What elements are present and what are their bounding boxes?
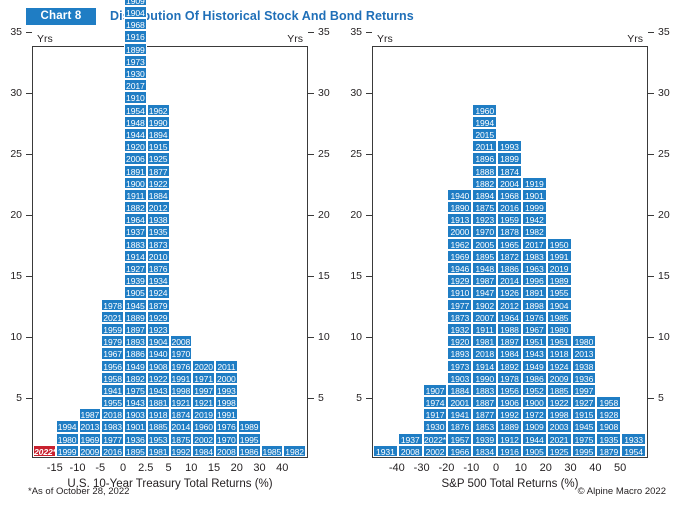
year-cell: 1959 xyxy=(497,213,522,225)
sp500-columns: 19312008193720022022*1930191719741907196… xyxy=(373,47,647,457)
treasury-yaxis-unit-right: Yrs xyxy=(287,33,303,45)
year-cell: 1948 xyxy=(472,262,497,274)
year-cell: 1972 xyxy=(522,408,547,420)
year-cell: 1994 xyxy=(56,420,79,432)
year-cell: 1909 xyxy=(522,420,547,432)
year-cell: 1904 xyxy=(547,299,572,311)
year-cell: 1991 xyxy=(215,408,238,420)
year-cell: 1980 xyxy=(56,433,79,445)
year-cell: 1834 xyxy=(472,445,497,457)
year-cell: 2000 xyxy=(447,225,472,237)
y-tick-mark xyxy=(366,32,372,33)
bin-minus40-minus30: 20081937 xyxy=(398,433,423,457)
y-tick-label: 25 xyxy=(10,149,22,159)
year-cell: 1961 xyxy=(547,335,572,347)
y-tick-mark xyxy=(308,93,314,94)
year-cell: 2003 xyxy=(547,420,572,432)
year-cell: 1922 xyxy=(147,372,170,384)
year-cell: 1886 xyxy=(497,262,522,274)
x-tick-label: 10 xyxy=(515,462,527,474)
y-tick-label: 20 xyxy=(658,210,670,220)
year-cell: 1894 xyxy=(147,128,170,140)
year-cell: 2019 xyxy=(547,262,572,274)
year-cell: 1977 xyxy=(447,299,472,311)
year-cell: 1884 xyxy=(447,384,472,396)
year-cell: 1935 xyxy=(596,433,621,445)
year-cell: 1938 xyxy=(147,213,170,225)
year-cell: 1977 xyxy=(101,433,124,445)
year-cell: 2013 xyxy=(572,347,597,359)
year-cell: 1939 xyxy=(124,274,147,286)
year-cell: 2017 xyxy=(124,79,147,91)
y-tick-mark xyxy=(26,154,32,155)
year-cell: 1947 xyxy=(472,286,497,298)
year-cell: 1970 xyxy=(215,433,238,445)
year-cell: 2020 xyxy=(192,360,215,372)
year-cell: 1981 xyxy=(472,335,497,347)
x-tick-label: 0 xyxy=(120,462,126,474)
year-cell: 1918 xyxy=(547,347,572,359)
y-tick-label: 10 xyxy=(10,332,22,342)
year-cell: 1980 xyxy=(572,335,597,347)
year-cell: 1918 xyxy=(147,408,170,420)
y-tick-label: 35 xyxy=(350,27,362,37)
year-cell: 1951 xyxy=(522,335,547,347)
year-cell: 1971 xyxy=(192,372,215,384)
year-cell: 1905 xyxy=(522,445,547,457)
bin-0-10: 1916191218891992190619561978189219841897… xyxy=(497,140,522,457)
year-cell: 1902 xyxy=(472,299,497,311)
year-cell: 1966 xyxy=(447,445,472,457)
year-cell: 1982 xyxy=(522,225,547,237)
year-cell: 1943 xyxy=(124,396,147,408)
y-tick-label: 15 xyxy=(318,271,330,281)
year-cell: 1903 xyxy=(124,408,147,420)
year-cell: 1944 xyxy=(522,433,547,445)
y-tick-mark xyxy=(26,398,32,399)
year-cell: 1990 xyxy=(472,372,497,384)
y-tick-mark xyxy=(26,276,32,277)
year-cell: 1925 xyxy=(547,445,572,457)
year-cell: 1999 xyxy=(56,445,79,457)
year-cell: 2007 xyxy=(472,311,497,323)
year-cell: 1955 xyxy=(101,396,124,408)
year-cell: 1922 xyxy=(547,396,572,408)
year-cell: 1986 xyxy=(522,372,547,384)
year-cell: 1882 xyxy=(124,201,147,213)
y-tick-mark xyxy=(648,154,654,155)
year-cell: 1881 xyxy=(147,396,170,408)
bin-2p5-5: 1981195318851918188119431922190819401904… xyxy=(147,104,170,457)
y-tick-mark xyxy=(308,32,314,33)
year-cell: 2008 xyxy=(215,445,238,457)
year-cell: 1943 xyxy=(522,347,547,359)
year-cell: 1874 xyxy=(170,408,193,420)
year-cell: 2022* xyxy=(423,433,448,445)
year-cell: 1875 xyxy=(472,201,497,213)
y-tick-label: 30 xyxy=(350,88,362,98)
y-tick-mark xyxy=(366,398,372,399)
chart-number-badge: Chart 8 xyxy=(26,8,96,25)
year-cell: 1908 xyxy=(147,360,170,372)
year-cell: 1897 xyxy=(497,335,522,347)
year-cell: 1889 xyxy=(497,420,522,432)
year-cell: 2008 xyxy=(170,335,193,347)
year-cell: 1896 xyxy=(472,152,497,164)
year-cell: 1910 xyxy=(124,91,147,103)
year-cell: 1978 xyxy=(497,372,522,384)
x-tick-label: -40 xyxy=(389,462,405,474)
bin-minus15-minus10: 199919801994 xyxy=(56,420,79,457)
year-cell: 1891 xyxy=(522,286,547,298)
year-cell: 2002 xyxy=(423,445,448,457)
year-cell: 2014 xyxy=(497,274,522,286)
year-cell: 1930 xyxy=(423,420,448,432)
year-cell: 1969 xyxy=(447,250,472,262)
year-cell: 1934 xyxy=(147,274,170,286)
year-cell: 2000 xyxy=(215,372,238,384)
year-cell: 1911 xyxy=(472,323,497,335)
bin-20-30: 1925202120031998192218852009192419181961… xyxy=(547,238,572,457)
x-tick-label: -15 xyxy=(47,462,63,474)
sp500-yaxis-unit-left: Yrs xyxy=(377,33,393,45)
year-cell: 1915 xyxy=(572,408,597,420)
year-cell: 1942 xyxy=(522,213,547,225)
year-cell: 1978 xyxy=(101,299,124,311)
year-cell: 1883 xyxy=(124,238,147,250)
sp500-xaxis-labels: -40-30-20-1001020304050 xyxy=(372,462,648,476)
y-tick-label: 10 xyxy=(350,332,362,342)
y-tick-label: 35 xyxy=(10,27,22,37)
year-cell: 1904 xyxy=(124,6,147,18)
year-cell: 2016 xyxy=(101,445,124,457)
bin-lt-minus40: 1931 xyxy=(373,445,398,457)
year-cell: 1932 xyxy=(447,323,472,335)
year-cell: 1931 xyxy=(373,445,398,457)
year-cell: 1916 xyxy=(124,30,147,42)
year-cell: 1987 xyxy=(79,408,102,420)
year-cell: 1927 xyxy=(124,262,147,274)
year-cell: 1991 xyxy=(170,372,193,384)
y-tick-mark xyxy=(366,93,372,94)
year-cell-highlighted: 2022* xyxy=(33,445,56,457)
year-cell: 1937 xyxy=(398,433,423,445)
year-cell: 1993 xyxy=(215,384,238,396)
x-tick-label: 15 xyxy=(208,462,220,474)
year-cell: 1988 xyxy=(497,323,522,335)
y-tick-label: 25 xyxy=(350,149,362,159)
year-cell: 1991 xyxy=(547,250,572,262)
year-cell: 1964 xyxy=(124,213,147,225)
year-cell: 1924 xyxy=(547,360,572,372)
x-tick-label: -10 xyxy=(463,462,479,474)
year-cell: 1941 xyxy=(447,408,472,420)
x-tick-label: 10 xyxy=(185,462,197,474)
year-cell: 1885 xyxy=(147,420,170,432)
year-cell: 1929 xyxy=(147,311,170,323)
year-cell: 1960 xyxy=(472,104,497,116)
year-cell: 2011 xyxy=(472,140,497,152)
bin-20-30: 198619951989 xyxy=(238,420,261,457)
x-tick-label: 20 xyxy=(540,462,552,474)
y-tick-mark xyxy=(366,337,372,338)
year-cell: 1916 xyxy=(497,445,522,457)
year-cell: 1914 xyxy=(124,250,147,262)
year-cell: 1997 xyxy=(192,384,215,396)
year-cell: 1875 xyxy=(170,433,193,445)
year-cell: 1963 xyxy=(522,262,547,274)
year-cell: 2012 xyxy=(147,201,170,213)
year-cell: 1899 xyxy=(497,152,522,164)
year-cell: 1969 xyxy=(79,433,102,445)
year-cell: 1949 xyxy=(522,360,547,372)
year-cell: 1939 xyxy=(472,433,497,445)
year-cell: 1903 xyxy=(447,372,472,384)
year-cell: 1998 xyxy=(547,408,572,420)
y-tick-mark xyxy=(366,154,372,155)
year-cell: 1980 xyxy=(547,323,572,335)
year-cell: 1897 xyxy=(124,323,147,335)
treasury-chart-panel: Yrs Yrs 551010151520202525303035354040 2… xyxy=(0,46,340,458)
year-cell: 1900 xyxy=(522,396,547,408)
year-cell: 1945 xyxy=(124,299,147,311)
year-cell: 1930 xyxy=(124,67,147,79)
x-tick-label: -30 xyxy=(414,462,430,474)
y-tick-mark xyxy=(308,337,314,338)
year-cell: 2008 xyxy=(398,445,423,457)
y-tick-mark xyxy=(648,337,654,338)
year-cell: 1990 xyxy=(147,116,170,128)
year-cell: 1928 xyxy=(596,408,621,420)
year-cell: 1992 xyxy=(497,408,522,420)
bin-5-10: 1992187520141874192119981991197619702008 xyxy=(170,335,193,457)
y-tick-label: 20 xyxy=(350,210,362,220)
year-cell: 1922 xyxy=(147,177,170,189)
year-cell: 1888 xyxy=(472,165,497,177)
year-cell: 1943 xyxy=(147,384,170,396)
year-cell: 1997 xyxy=(572,384,597,396)
bin-10-15: 19842002196020191921199719712020 xyxy=(192,360,215,458)
year-cell: 1907 xyxy=(423,384,448,396)
year-cell: 1958 xyxy=(596,396,621,408)
year-cell: 2011 xyxy=(215,360,238,372)
bin-lt-minus15: 2022* xyxy=(33,445,56,457)
year-cell: 1893 xyxy=(447,347,472,359)
footnote: *As of October 28, 2022 xyxy=(28,486,129,497)
year-cell: 1996 xyxy=(522,274,547,286)
y-tick-mark xyxy=(648,276,654,277)
year-cell: 1967 xyxy=(101,347,124,359)
year-cell: 1906 xyxy=(497,396,522,408)
year-cell: 1901 xyxy=(124,420,147,432)
year-cell: 1950 xyxy=(547,238,572,250)
year-cell: 1895 xyxy=(124,445,147,457)
y-tick-mark xyxy=(648,32,654,33)
year-cell: 1913 xyxy=(447,213,472,225)
year-cell: 1984 xyxy=(497,347,522,359)
year-cell: 1910 xyxy=(447,286,472,298)
year-cell: 1999 xyxy=(522,201,547,213)
year-cell: 1890 xyxy=(447,201,472,213)
year-cell: 1958 xyxy=(101,372,124,384)
y-tick-label: 30 xyxy=(658,88,670,98)
year-cell: 1940 xyxy=(147,347,170,359)
y-tick-label: 20 xyxy=(318,210,330,220)
year-cell: 1998 xyxy=(170,384,193,396)
bin-minus30-minus20: 20022022*1930191719741907 xyxy=(423,384,448,457)
y-tick-mark xyxy=(648,398,654,399)
y-tick-label: 10 xyxy=(658,332,670,342)
year-cell: 2004 xyxy=(497,177,522,189)
year-cell: 1900 xyxy=(124,177,147,189)
year-cell: 1954 xyxy=(124,104,147,116)
year-cell: 2005 xyxy=(472,238,497,250)
year-cell: 1884 xyxy=(147,189,170,201)
year-cell: 1877 xyxy=(472,408,497,420)
year-cell: 1946 xyxy=(447,262,472,274)
year-cell: 2021 xyxy=(101,311,124,323)
y-tick-mark xyxy=(308,154,314,155)
page-title: Distribution Of Historical Stock And Bon… xyxy=(110,8,414,25)
x-tick-label: -10 xyxy=(70,462,86,474)
year-cell: 1923 xyxy=(147,323,170,335)
y-tick-mark xyxy=(648,93,654,94)
year-cell: 1923 xyxy=(472,213,497,225)
y-tick-label: 15 xyxy=(350,271,362,281)
year-cell: 1876 xyxy=(447,420,472,432)
year-cell: 1877 xyxy=(147,165,170,177)
year-cell: 1921 xyxy=(192,396,215,408)
year-cell: 1926 xyxy=(497,286,522,298)
year-cell: 2014 xyxy=(170,420,193,432)
year-cell: 1976 xyxy=(522,311,547,323)
year-cell: 1965 xyxy=(497,238,522,250)
year-cell: 1955 xyxy=(547,286,572,298)
year-cell: 1876 xyxy=(147,262,170,274)
year-cell: 1937 xyxy=(124,225,147,237)
x-tick-label: 30 xyxy=(253,462,265,474)
year-cell: 1921 xyxy=(170,396,193,408)
year-cell: 1984 xyxy=(192,445,215,457)
x-tick-label: -20 xyxy=(439,462,455,474)
treasury-yaxis-unit-left: Yrs xyxy=(37,33,53,45)
y-tick-label: 35 xyxy=(658,27,670,37)
bin-minus10-minus5: 2009196920131987 xyxy=(79,408,102,457)
year-cell: 1912 xyxy=(497,433,522,445)
y-tick-mark xyxy=(26,32,32,33)
year-cell: 1893 xyxy=(124,335,147,347)
year-cell: 1944 xyxy=(124,128,147,140)
year-cell: 1892 xyxy=(497,360,522,372)
y-tick-label: 5 xyxy=(658,393,664,403)
y-tick-mark xyxy=(26,337,32,338)
year-cell: 1975 xyxy=(124,384,147,396)
y-tick-mark xyxy=(648,215,654,216)
year-cell: 1975 xyxy=(572,433,597,445)
year-cell: 1886 xyxy=(124,347,147,359)
year-cell: 1919 xyxy=(522,177,547,189)
year-cell: 1894 xyxy=(472,189,497,201)
year-cell: 1953 xyxy=(147,433,170,445)
year-cell: 1985 xyxy=(547,311,572,323)
year-cell: 1952 xyxy=(522,384,547,396)
year-cell: 1925 xyxy=(147,152,170,164)
year-cell: 1898 xyxy=(522,299,547,311)
year-cell: 1874 xyxy=(497,165,522,177)
year-cell: 1882 xyxy=(472,177,497,189)
year-cell: 1914 xyxy=(472,360,497,372)
treasury-xaxis-labels: -15-10-502.551015203040 xyxy=(32,462,308,476)
sp500-yaxis-unit-right: Yrs xyxy=(627,33,643,45)
year-cell: 1908 xyxy=(596,420,621,432)
year-cell: 1964 xyxy=(497,311,522,323)
year-cell: 1936 xyxy=(572,372,597,384)
year-cell: 1933 xyxy=(621,433,646,445)
year-cell: 2010 xyxy=(147,250,170,262)
year-cell: 1945 xyxy=(572,420,597,432)
year-cell: 2002 xyxy=(192,433,215,445)
year-cell: 1938 xyxy=(572,360,597,372)
bin-gt-40: 1982 xyxy=(283,445,306,457)
y-tick-label: 5 xyxy=(16,393,22,403)
sp500-plot-area: Yrs Yrs 551010151520202525303035354040 1… xyxy=(372,46,648,458)
bin-15-20: 20081970197619911998199320002011 xyxy=(215,360,238,458)
bin-30-40: 1985 xyxy=(261,445,284,457)
copyright-notice: © Alpine Macro 2022 xyxy=(578,486,666,497)
year-cell: 1941 xyxy=(101,384,124,396)
year-cell: 1879 xyxy=(147,299,170,311)
bin-10-20: 1905194419091972190019521986194919431951… xyxy=(522,177,547,457)
year-cell: 1989 xyxy=(238,420,261,432)
year-cell: 2017 xyxy=(522,238,547,250)
year-cell: 1976 xyxy=(170,360,193,372)
year-cell: 1998 xyxy=(215,396,238,408)
year-cell: 1959 xyxy=(101,323,124,335)
year-cell: 1878 xyxy=(497,225,522,237)
x-tick-label: 2.5 xyxy=(138,462,153,474)
bin-40-50: 18791935190819281958 xyxy=(596,396,621,457)
y-tick-label: 25 xyxy=(658,149,670,159)
year-cell: 1873 xyxy=(147,238,170,250)
x-tick-label: 30 xyxy=(564,462,576,474)
year-cell: 1899 xyxy=(124,43,147,55)
year-cell: 1892 xyxy=(124,372,147,384)
bin-minus20-minus10: 1966195718761941200118841903197318931920… xyxy=(447,189,472,457)
year-cell: 1956 xyxy=(101,360,124,372)
treasury-plot-area: Yrs Yrs 551010151520202525303035354040 2… xyxy=(32,46,308,458)
year-cell: 1993 xyxy=(497,140,522,152)
year-cell: 1995 xyxy=(238,433,261,445)
year-cell: 1936 xyxy=(124,433,147,445)
x-tick-label: -5 xyxy=(95,462,105,474)
year-cell: 2012 xyxy=(497,299,522,311)
year-cell: 1935 xyxy=(147,225,170,237)
year-cell: 1917 xyxy=(423,408,448,420)
year-cell: 2021 xyxy=(547,433,572,445)
year-cell: 1970 xyxy=(170,347,193,359)
year-cell: 1915 xyxy=(147,140,170,152)
year-cell: 2016 xyxy=(497,201,522,213)
year-cell: 1973 xyxy=(447,360,472,372)
year-cell: 1948 xyxy=(124,116,147,128)
year-cell: 2013 xyxy=(79,420,102,432)
year-cell: 1927 xyxy=(572,396,597,408)
y-tick-label: 35 xyxy=(318,27,330,37)
y-tick-mark xyxy=(26,93,32,94)
y-tick-label: 25 xyxy=(318,149,330,159)
bin-minus5-0: 2016197719832018195519411958195619671979… xyxy=(101,299,124,457)
x-tick-label: 40 xyxy=(589,462,601,474)
